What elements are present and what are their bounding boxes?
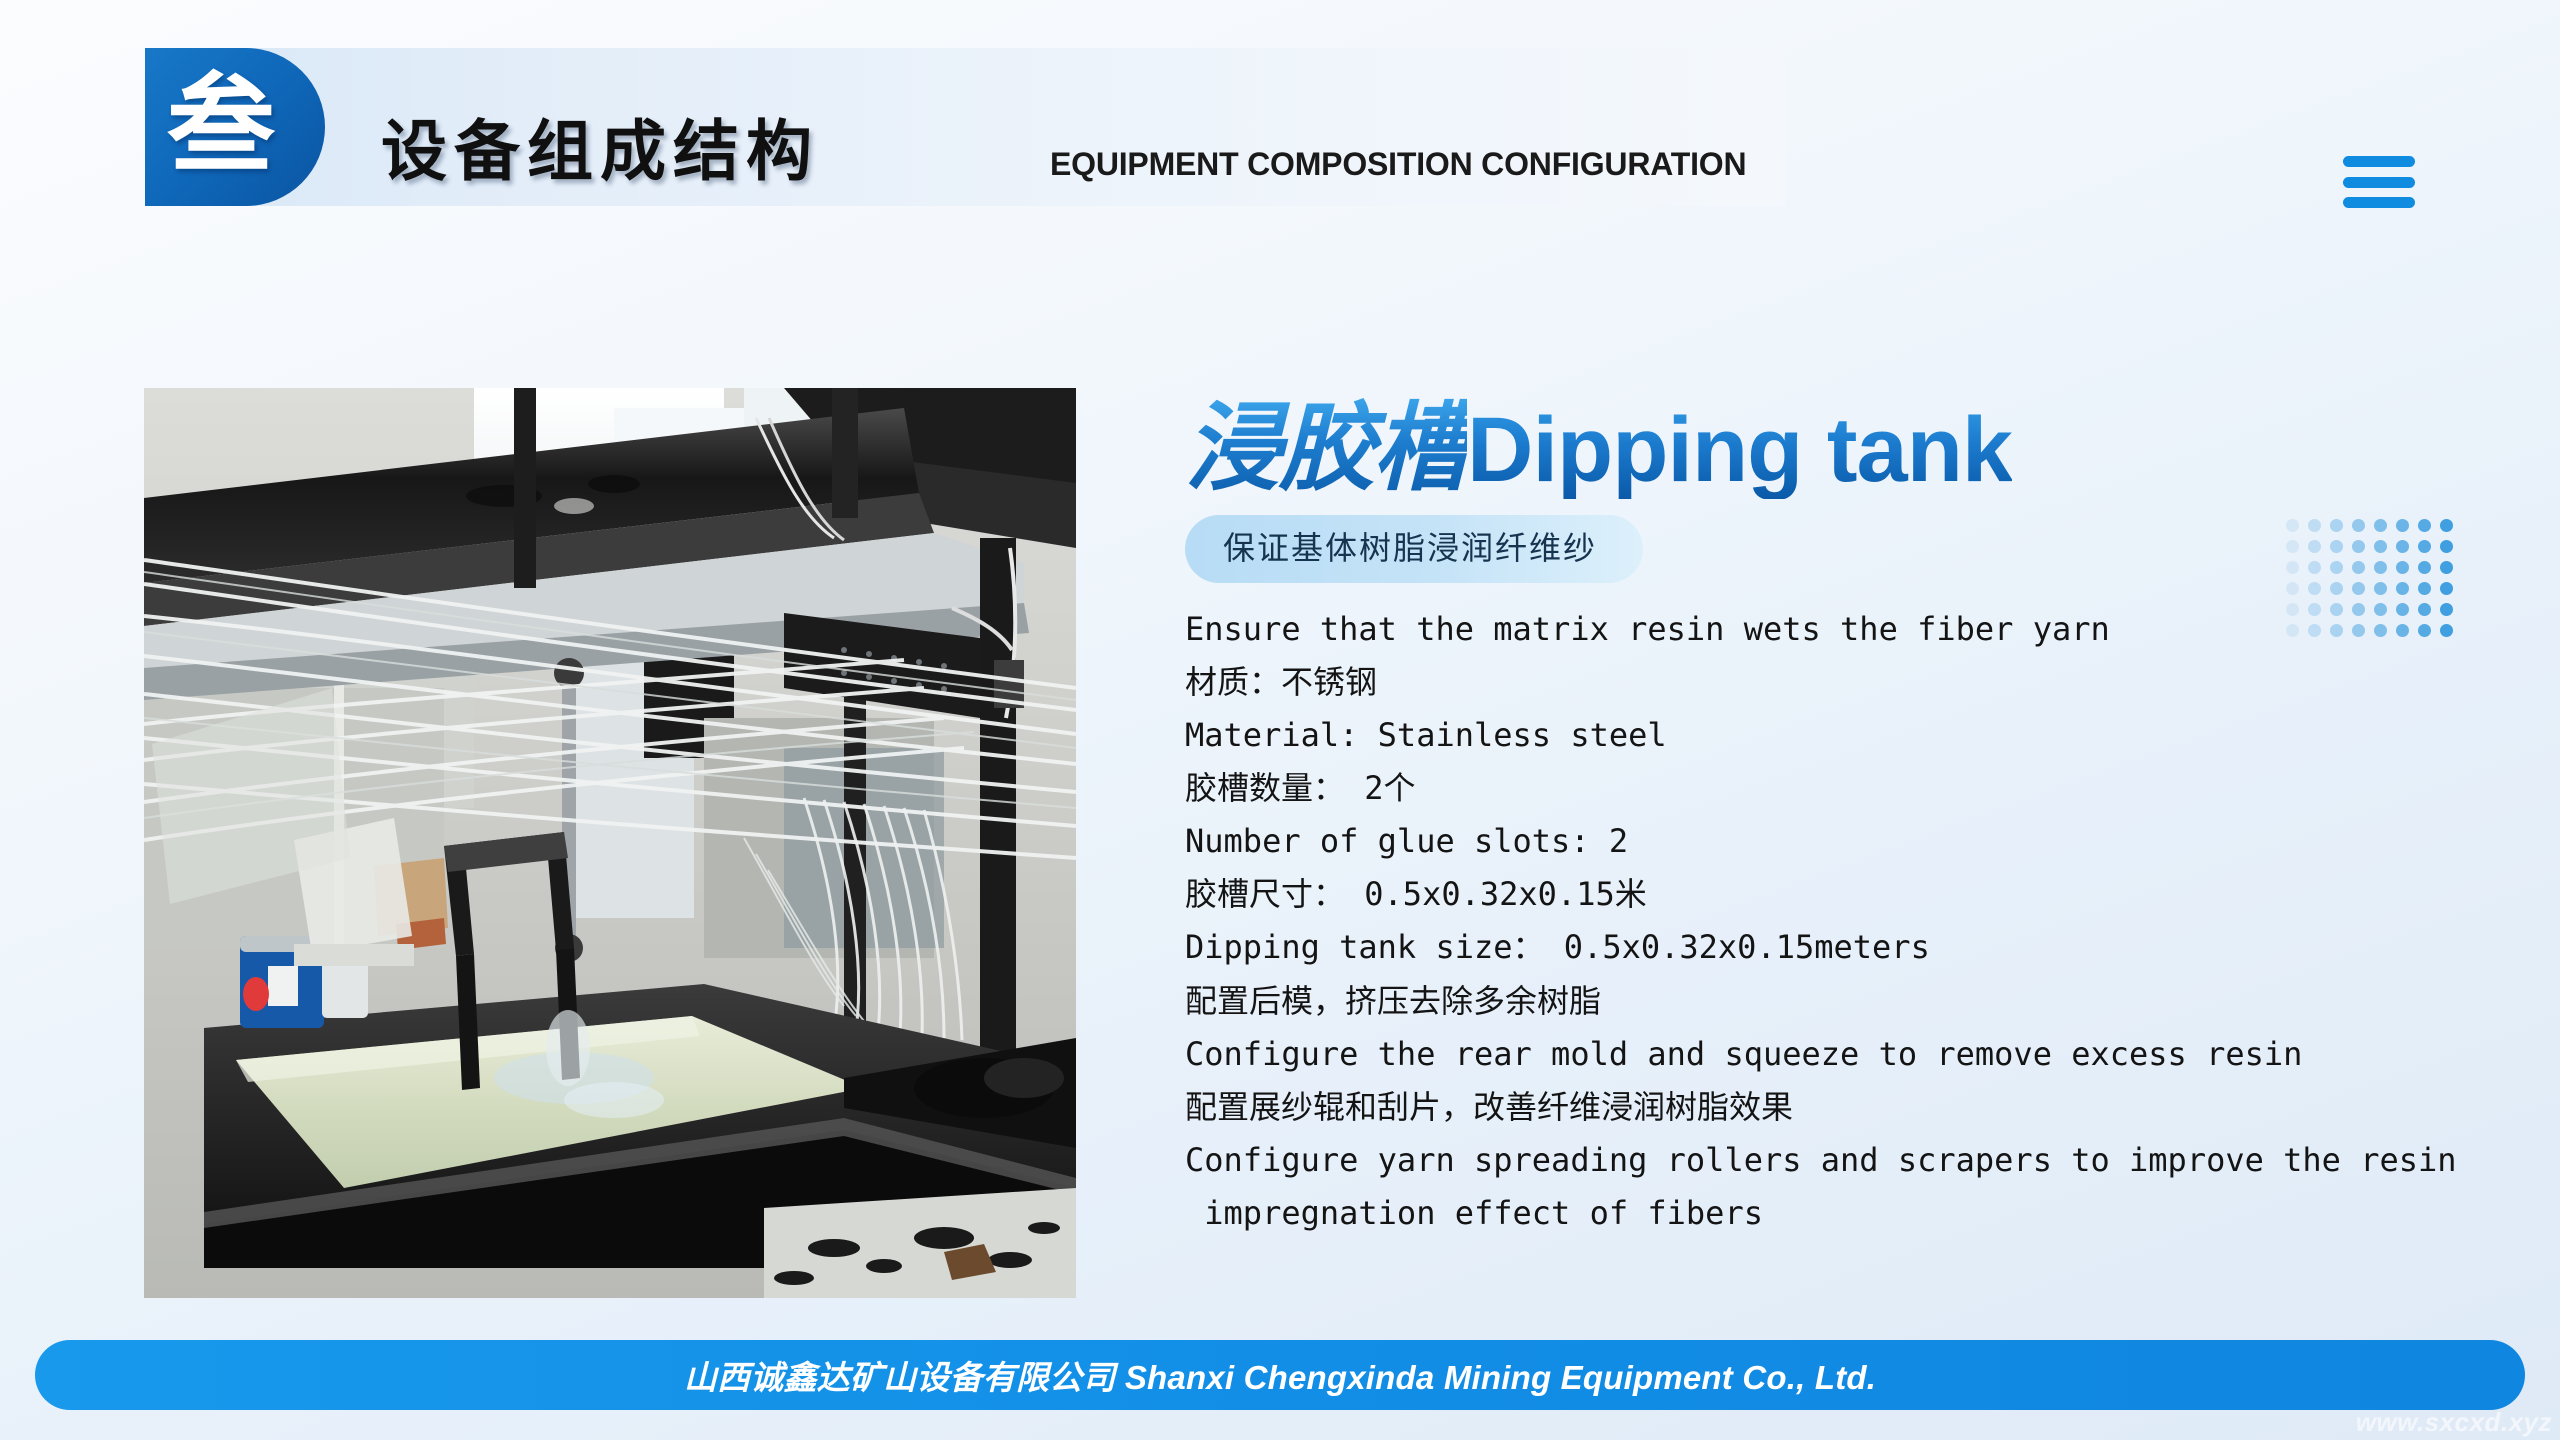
dot: [2396, 582, 2409, 595]
dot: [2418, 519, 2431, 532]
photo-illustration: [144, 388, 1076, 1298]
dot: [2396, 540, 2409, 553]
hamburger-menu-icon[interactable]: [2343, 156, 2415, 208]
content-panel: 浸胶槽 Dipping tank 保证基体树脂浸润纤维纱 Ensure that…: [1185, 398, 2475, 1240]
dot: [2286, 540, 2299, 553]
dot: [2286, 519, 2299, 532]
dot-grid-decoration: [2286, 519, 2462, 645]
section-title: 浸胶槽 Dipping tank: [1185, 398, 2475, 499]
dot: [2374, 519, 2387, 532]
dot: [2374, 582, 2387, 595]
dot: [2352, 582, 2365, 595]
dot: [2286, 582, 2299, 595]
dot: [2374, 561, 2387, 574]
dot: [2352, 561, 2365, 574]
dot: [2396, 624, 2409, 637]
dot: [2440, 603, 2453, 616]
dot: [2440, 624, 2453, 637]
company-name: 山西诚鑫达矿山设备有限公司 Shanxi Chengxinda Mining E…: [684, 1351, 1876, 1399]
dot: [2374, 624, 2387, 637]
spec-line: Number of glue slots: 2: [1185, 815, 2475, 868]
dot: [2396, 519, 2409, 532]
dot: [2308, 624, 2321, 637]
dot: [2440, 540, 2453, 553]
dot: [2440, 582, 2453, 595]
dot: [2330, 561, 2343, 574]
header-title-chinese: 设备组成结构: [381, 98, 819, 194]
dot: [2396, 603, 2409, 616]
dot: [2330, 582, 2343, 595]
section-title-english: Dipping tank: [1467, 402, 2012, 499]
spec-line: 胶槽尺寸： 0.5x0.32x0.15米: [1185, 868, 2475, 921]
spec-line: Dipping tank size： 0.5x0.32x0.15meters: [1185, 921, 2475, 974]
footer-bar: 山西诚鑫达矿山设备有限公司 Shanxi Chengxinda Mining E…: [35, 1340, 2525, 1410]
dot: [2330, 519, 2343, 532]
dot: [2330, 624, 2343, 637]
dot: [2308, 603, 2321, 616]
spec-line: 配置展纱辊和刮片，改善纤维浸润树脂效果: [1185, 1081, 2475, 1134]
dot: [2308, 519, 2321, 532]
dot: [2418, 561, 2431, 574]
spec-line: Material: Stainless steel: [1185, 709, 2475, 762]
dot: [2418, 582, 2431, 595]
dot: [2418, 540, 2431, 553]
dot: [2440, 519, 2453, 532]
dot: [2308, 582, 2321, 595]
highlight-pill: 保证基体树脂浸润纤维纱: [1185, 515, 1643, 583]
dot: [2286, 603, 2299, 616]
menu-bar-3: [2343, 197, 2415, 208]
dot: [2352, 603, 2365, 616]
menu-bar-2: [2343, 177, 2415, 188]
spec-line: Ensure that the matrix resin wets the fi…: [1185, 603, 2475, 656]
spec-list: Ensure that the matrix resin wets the fi…: [1185, 603, 2475, 1240]
dot: [2308, 540, 2321, 553]
dot: [2352, 540, 2365, 553]
dot: [2308, 561, 2321, 574]
dot: [2352, 519, 2365, 532]
dot: [2286, 624, 2299, 637]
dot: [2374, 603, 2387, 616]
dot: [2286, 561, 2299, 574]
header-title-english: EQUIPMENT COMPOSITION CONFIGURATION: [1050, 146, 1746, 183]
dot: [2330, 603, 2343, 616]
section-number-badge: 叁: [145, 48, 325, 206]
dot: [2440, 561, 2453, 574]
site-watermark: www.sxcxd.xyz: [2356, 1407, 2552, 1438]
spec-line: Configure yarn spreading rollers and scr…: [1185, 1134, 2475, 1240]
dot: [2396, 561, 2409, 574]
spec-line: 配置后模，挤压去除多余树脂: [1185, 975, 2475, 1028]
dot: [2374, 540, 2387, 553]
dot: [2418, 624, 2431, 637]
dipping-tank-photo: [144, 388, 1076, 1298]
page-header: 叁 设备组成结构 EQUIPMENT COMPOSITION CONFIGURA…: [145, 48, 2415, 206]
section-title-chinese: 浸胶槽: [1185, 398, 1467, 499]
dot: [2352, 624, 2365, 637]
dot: [2330, 540, 2343, 553]
spec-line: Configure the rear mold and squeeze to r…: [1185, 1028, 2475, 1081]
spec-line: 材质：不锈钢: [1185, 656, 2475, 709]
spec-line: 胶槽数量： 2个: [1185, 762, 2475, 815]
menu-bar-1: [2343, 156, 2415, 167]
section-number-label: 叁: [167, 73, 275, 181]
dot: [2418, 603, 2431, 616]
